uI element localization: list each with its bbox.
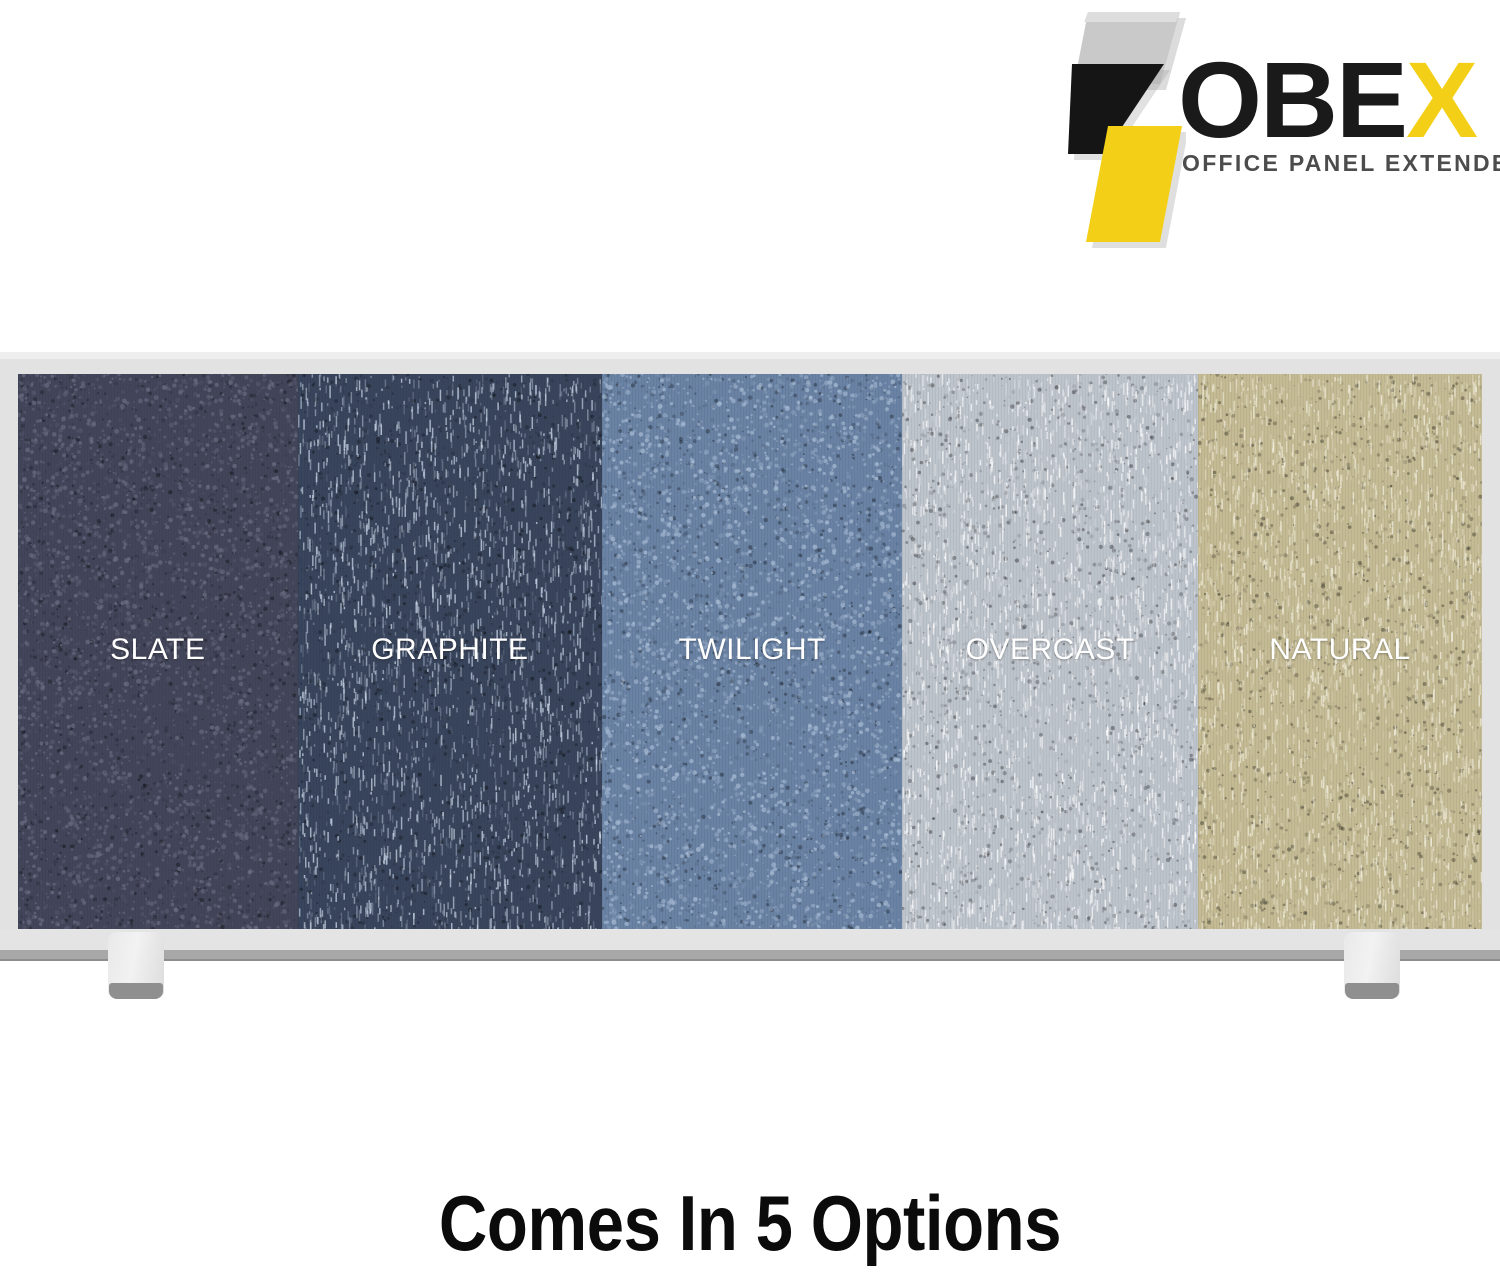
fabric-swatch-twilight[interactable]: TWILIGHT	[602, 374, 902, 929]
obex-wordmark-dark: OBE	[1178, 39, 1406, 160]
obex-logo: OBEX OFFICE PANEL EXTENDERS	[1066, 8, 1466, 198]
panel-bottom-rail	[0, 950, 1500, 959]
fabric-swatch-label-graphite: GRAPHITE	[298, 633, 603, 667]
obex-wordmark: OBEX OFFICE PANEL EXTENDERS	[1178, 46, 1468, 186]
fabric-swatch-label-natural: NATURAL	[1198, 633, 1482, 667]
frame-top-highlight	[0, 352, 1500, 359]
obex-wordmark-text: OBEX	[1178, 46, 1468, 154]
fabric-swatch-slate[interactable]: SLATE	[18, 374, 298, 929]
caption-text: Comes In 5 Options	[105, 1178, 1395, 1269]
panel-assembly: SLATEGRAPHITETWILIGHTOVERCASTNATURAL	[0, 352, 1500, 1012]
obex-chevron-mark-icon	[1066, 8, 1186, 258]
panel-mounting-bracket-left	[108, 932, 164, 998]
panel-bottom-rail-shadow	[0, 959, 1500, 961]
fabric-swatch-overcast[interactable]: OVERCAST	[902, 374, 1198, 929]
panel-frame: SLATEGRAPHITETWILIGHTOVERCASTNATURAL	[0, 352, 1500, 958]
obex-wordmark-accent: X	[1406, 39, 1476, 160]
obex-tagline: OFFICE PANEL EXTENDERS	[1182, 150, 1500, 177]
panel-bottom-rail-light	[0, 929, 1500, 950]
fabric-swatch-graphite[interactable]: GRAPHITE	[298, 374, 603, 929]
panel-mounting-bracket-right	[1344, 932, 1400, 998]
fabric-swatch-natural[interactable]: NATURAL	[1198, 374, 1482, 929]
fabric-swatch-label-slate: SLATE	[18, 633, 298, 667]
fabric-swatch-label-overcast: OVERCAST	[902, 633, 1198, 667]
fabric-swatch-label-twilight: TWILIGHT	[602, 633, 902, 667]
fabric-swatch-strip: SLATEGRAPHITETWILIGHTOVERCASTNATURAL	[18, 374, 1482, 929]
